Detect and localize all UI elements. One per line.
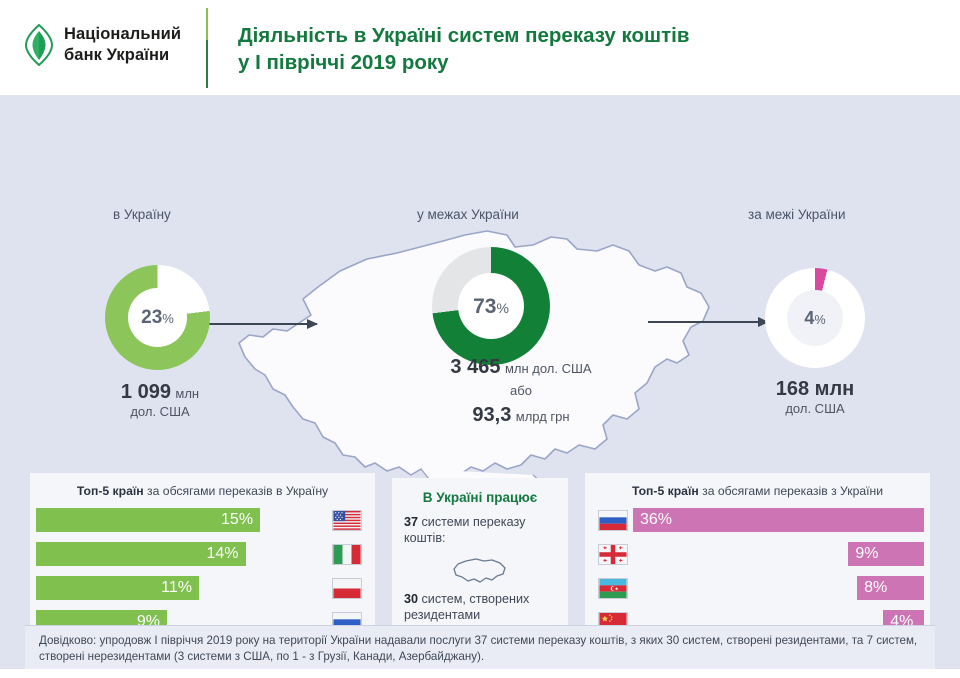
chart-top5-to-ukraine-title-rest: за обсягами переказів в Україну [144, 484, 328, 498]
flag-azerbaijan-cell [593, 578, 633, 599]
footer: Довідково: упродовж I півріччя 2019 року… [25, 625, 935, 669]
flag-georgia-icon [598, 544, 628, 565]
flag-poland-cell [327, 578, 367, 599]
flag-russia-cell [593, 510, 633, 531]
flag-georgia-cell [593, 544, 633, 565]
infographic-root: Національний банк України Діяльність в У… [0, 0, 960, 678]
bar-azerbaijan[interactable]: 8% [857, 576, 924, 600]
amount-within-ukraine: 3 465 млн дол. США або 93,3 млрд грн [396, 353, 646, 430]
chart-top5-to-ukraine-title-bold: Топ-5 країн [77, 484, 144, 498]
bar-georgia[interactable]: 9% [848, 542, 924, 566]
bar-poland-label: 11% [161, 579, 192, 597]
ukraine-outline-icon [448, 556, 510, 586]
donut-to-ukraine-value: 23% [141, 308, 174, 327]
donut-from-ukraine-hole: 4% [787, 290, 843, 346]
logo: Національний банк України [24, 24, 181, 66]
systems-residents-number: 30 [404, 592, 418, 606]
flag-italy-icon [332, 544, 362, 565]
bar-track: 14% [36, 542, 327, 566]
donut-from-ukraine-value: 4% [804, 309, 825, 327]
donut-within-ukraine-hole: 73% [458, 273, 524, 339]
flag-poland-icon [332, 578, 362, 599]
header-divider-dark [206, 40, 208, 88]
bar-usa[interactable]: 15% [36, 508, 260, 532]
main-band: в Україну у межах України за межі Україн… [0, 95, 960, 625]
bar-row: 8% [593, 573, 924, 603]
flag-italy-cell [327, 544, 367, 565]
footer-note: Довідково: упродовж I півріччя 2019 року… [39, 633, 924, 666]
header: Національний банк України Діяльність в У… [0, 0, 960, 95]
chart-top5-from-ukraine-title-rest: за обсягами переказів з України [699, 484, 883, 498]
column-label-within-ukraine: у межах України [417, 207, 519, 222]
bar-track: 36% [633, 508, 924, 532]
amount-from-ukraine: 168 млн дол. США [720, 378, 910, 416]
amount-within-ukraine-value: 3 465 [450, 356, 500, 378]
chart-top5-to-ukraine-title: Топ-5 країн за обсягами переказів в Укра… [30, 484, 375, 498]
bar-track: 15% [36, 508, 327, 532]
page-title: Діяльність в Україні систем переказу кош… [238, 22, 898, 77]
footer-strip [0, 669, 960, 678]
bar-row: 9% [593, 539, 924, 569]
bar-track: 9% [633, 542, 924, 566]
donut-to-ukraine: 23% [105, 265, 210, 370]
amount-to-ukraine-currency: дол. США [60, 404, 260, 419]
bar-poland[interactable]: 11% [36, 576, 199, 600]
bar-russia-out-label: 36% [640, 511, 672, 529]
chart-top5-from-ukraine-title: Топ-5 країн за обсягами переказів з Укра… [585, 484, 930, 498]
systems-total-text: системи переказу коштів: [404, 515, 525, 545]
bar-row: 36% [593, 505, 924, 535]
logo-text: Національний банк України [64, 24, 181, 65]
amount-to-ukraine-unit: млн [175, 386, 199, 401]
donut-within-ukraine: 73% [432, 247, 550, 365]
systems-residents-line: 30 систем, створених резидентами [404, 591, 560, 624]
bar-track: 11% [36, 576, 327, 600]
amount-to-ukraine-value: 1 099 [121, 381, 171, 403]
bar-georgia-label: 9% [855, 545, 878, 563]
amount-within-ukraine-unit: млн дол. США [505, 361, 592, 376]
bar-italy-label: 14% [206, 545, 238, 563]
amount-within-ukraine-value-uah: 93,3 [472, 404, 511, 426]
amount-within-ukraine-unit-uah: млрд грн [516, 409, 570, 424]
bar-row: 14% [36, 539, 367, 569]
amount-to-ukraine: 1 099 млн дол. США [60, 381, 260, 419]
bar-track: 8% [633, 576, 924, 600]
amount-within-ukraine-or: або [396, 382, 646, 401]
arrow-to-map-icon [197, 323, 317, 325]
nbu-leaf-logo-icon [24, 24, 54, 66]
amount-from-ukraine-currency: дол. США [720, 401, 910, 416]
bar-row: 11% [36, 573, 367, 603]
flag-usa-icon [332, 510, 362, 531]
flag-usa-cell [327, 510, 367, 531]
systems-total-line: 37 системи переказу коштів: [404, 514, 560, 547]
flag-russia-icon [598, 510, 628, 531]
bar-russia-out[interactable]: 36% [633, 508, 924, 532]
systems-residents-text: систем, створених резидентами [404, 592, 529, 622]
bar-azerbaijan-label: 8% [864, 579, 887, 597]
donut-within-ukraine-value: 73% [473, 296, 509, 317]
amount-from-ukraine-value: 168 млн [776, 378, 855, 400]
bar-usa-label: 15% [221, 511, 253, 529]
chart-top5-from-ukraine-title-bold: Топ-5 країн [632, 484, 699, 498]
arrow-from-map-icon [648, 321, 768, 323]
column-label-from-ukraine: за межі України [748, 207, 846, 222]
donut-from-ukraine: 4% [765, 268, 865, 368]
donut-to-ukraine-hole: 23% [128, 288, 187, 347]
column-label-to-ukraine: в Україну [113, 207, 171, 222]
systems-total-number: 37 [404, 515, 418, 529]
bar-row: 15% [36, 505, 367, 535]
bar-italy[interactable]: 14% [36, 542, 246, 566]
panel-systems-heading: В Україні працює [392, 490, 568, 505]
flag-azerbaijan-icon [598, 578, 628, 599]
